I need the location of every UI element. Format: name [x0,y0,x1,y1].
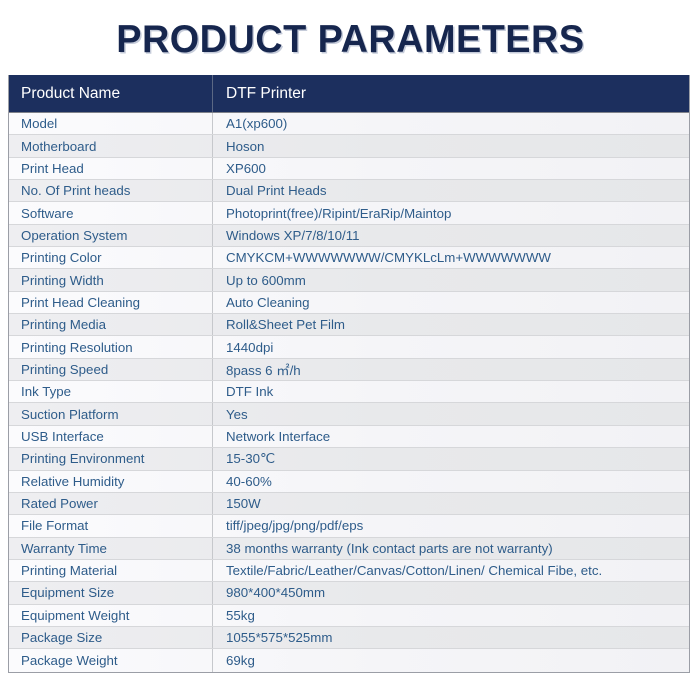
parameter-name: Relative Humidity [9,471,213,492]
table-row: Package Weight69kg [9,649,689,671]
parameter-value: Photoprint(free)/Ripint/EraRip/Maintop [213,202,689,223]
parameter-value: Network Interface [213,426,689,447]
parameter-name: Print Head Cleaning [9,292,213,313]
parameter-name: Print Head [9,158,213,179]
parameter-name: Suction Platform [9,403,213,424]
table-header-key: Product Name [9,75,213,112]
parameter-name: Printing Resolution [9,336,213,357]
table-row: Package Size1055*575*525mm [9,627,689,649]
parameter-name: USB Interface [9,426,213,447]
parameter-value: 8pass 6 ㎡/h [213,359,689,380]
table-row: Print HeadXP600 [9,158,689,180]
parameter-value: tiff/jpeg/jpg/png/pdf/eps [213,515,689,536]
parameter-value: 38 months warranty (Ink contact parts ar… [213,538,689,559]
parameter-value: 69kg [213,649,689,671]
table-body: ModelA1(xp600)MotherboardHosonPrint Head… [9,113,689,672]
table-row: Printing Environment15-30℃ [9,448,689,470]
parameter-value: 980*400*450mm [213,582,689,603]
parameter-name: Printing Environment [9,448,213,469]
parameter-value: Auto Cleaning [213,292,689,313]
parameter-value: 55kg [213,605,689,626]
parameter-name: File Format [9,515,213,536]
parameter-name: Printing Width [9,269,213,290]
parameter-value: 150W [213,493,689,514]
parameter-name: No. Of Print heads [9,180,213,201]
parameter-name: Warranty Time [9,538,213,559]
parameter-value: 40-60% [213,471,689,492]
table-row: No. Of Print headsDual Print Heads [9,180,689,202]
parameter-value: Windows XP/7/8/10/11 [213,225,689,246]
table-row: Rated Power150W [9,493,689,515]
table-row: Printing Resolution1440dpi [9,336,689,358]
table-row: Printing MediaRoll&Sheet Pet Film [9,314,689,336]
table-row: Equipment Weight55kg [9,605,689,627]
table-row: SoftwarePhotoprint(free)/Ripint/EraRip/M… [9,202,689,224]
table-row: Warranty Time38 months warranty (Ink con… [9,538,689,560]
parameter-value: Up to 600mm [213,269,689,290]
parameter-name: Package Size [9,627,213,648]
parameter-name: Printing Color [9,247,213,268]
table-row: Operation SystemWindows XP/7/8/10/11 [9,225,689,247]
table-row: Suction PlatformYes [9,403,689,425]
page-title: PRODUCT PARAMETERS [116,18,584,62]
parameter-value: A1(xp600) [213,113,689,134]
table-header-value: DTF Printer [213,75,689,112]
table-row: Printing ColorCMYKCM+WWWWWWW/CMYKLcLm+WW… [9,247,689,269]
page-title-banner: PRODUCT PARAMETERS [0,0,700,72]
parameter-name: Model [9,113,213,134]
parameter-name: Printing Material [9,560,213,581]
table-row: Printing Speed8pass 6 ㎡/h [9,359,689,381]
parameter-name: Software [9,202,213,223]
parameter-name: Ink Type [9,381,213,402]
parameter-name: Operation System [9,225,213,246]
parameter-value: 15-30℃ [213,448,689,469]
table-row: Printing MaterialTextile/Fabric/Leather/… [9,560,689,582]
parameter-value: Dual Print Heads [213,180,689,201]
table-row: Printing WidthUp to 600mm [9,269,689,291]
parameter-value: Roll&Sheet Pet Film [213,314,689,335]
parameter-value: Hoson [213,135,689,156]
parameter-value: CMYKCM+WWWWWWW/CMYKLcLm+WWWWWWW [213,247,689,268]
parameter-name: Rated Power [9,493,213,514]
parameter-name: Equipment Size [9,582,213,603]
table-row: Ink TypeDTF Ink [9,381,689,403]
parameter-value: 1440dpi [213,336,689,357]
parameter-name: Motherboard [9,135,213,156]
parameter-value: 1055*575*525mm [213,627,689,648]
table-row: File Formattiff/jpeg/jpg/png/pdf/eps [9,515,689,537]
table-row: Relative Humidity40-60% [9,471,689,493]
table-row: Equipment Size980*400*450mm [9,582,689,604]
parameter-value: Yes [213,403,689,424]
table-row: USB InterfaceNetwork Interface [9,426,689,448]
parameter-name: Package Weight [9,649,213,671]
parameter-name: Printing Speed [9,359,213,380]
table-row: Print Head CleaningAuto Cleaning [9,292,689,314]
table-header-row: Product Name DTF Printer [9,75,689,113]
table-row: MotherboardHoson [9,135,689,157]
parameter-value: Textile/Fabric/Leather/Canvas/Cotton/Lin… [213,560,689,581]
table-row: ModelA1(xp600) [9,113,689,135]
parameter-value: DTF Ink [213,381,689,402]
parameter-value: XP600 [213,158,689,179]
parameter-name: Printing Media [9,314,213,335]
parameter-name: Equipment Weight [9,605,213,626]
product-parameters-table: Product Name DTF Printer ModelA1(xp600)M… [8,75,690,673]
